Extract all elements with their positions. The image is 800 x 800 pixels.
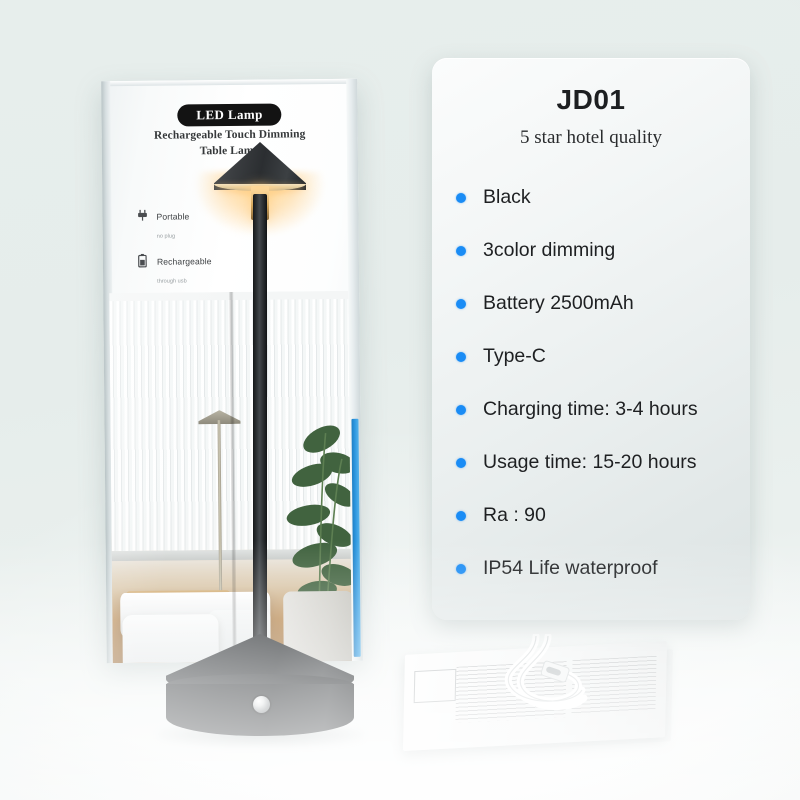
bullet-dot-icon xyxy=(456,458,466,468)
spec-list-item: Battery 2500mAh xyxy=(456,277,750,330)
bullet-dot-icon xyxy=(456,352,466,362)
box-led-lamp-badge: LED Lamp xyxy=(177,104,282,127)
lamp-shade xyxy=(214,142,306,190)
spec-text: 3color dimming xyxy=(483,239,615,262)
spec-list-item: Ra : 90 xyxy=(456,489,750,542)
spec-text: Usage time: 15-20 hours xyxy=(483,451,697,474)
product-photo-scene: LED Lamp Rechargeable Touch Dimming Tabl… xyxy=(0,0,800,800)
accessories-group xyxy=(404,648,666,744)
bullet-dot-icon xyxy=(456,193,466,203)
spec-text: Charging time: 3-4 hours xyxy=(483,398,698,421)
usb-c-cable xyxy=(490,634,612,718)
lamp-stem xyxy=(253,194,267,646)
spec-text: Ra : 90 xyxy=(483,504,546,527)
spec-info-card: JD01 5 star hotel quality Black 3color d… xyxy=(432,58,750,620)
bullet-dot-icon xyxy=(456,564,466,574)
card-title: JD01 xyxy=(432,84,750,116)
spec-text: IP54 Life waterproof xyxy=(483,557,658,580)
bullet-dot-icon xyxy=(456,405,466,415)
spec-bullet-list: Black 3color dimming Battery 2500mAh Typ… xyxy=(432,171,750,595)
bullet-dot-icon xyxy=(456,299,466,309)
manual-diagram-box xyxy=(414,669,457,703)
lamp-power-knob[interactable] xyxy=(253,696,270,713)
bullet-dot-icon xyxy=(456,246,466,256)
spec-list-item: Black xyxy=(456,171,750,224)
spec-text: Black xyxy=(483,186,531,209)
spec-text: Battery 2500mAh xyxy=(483,292,634,315)
plug-icon xyxy=(134,207,149,224)
battery-icon xyxy=(135,252,150,269)
spec-list-item: 3color dimming xyxy=(456,224,750,277)
card-subtitle: 5 star hotel quality xyxy=(432,127,750,149)
bullet-dot-icon xyxy=(456,511,466,521)
spec-list-item: Type-C xyxy=(456,330,750,383)
spec-list-item: IP54 Life waterproof xyxy=(456,542,750,595)
spec-list-item: Usage time: 15-20 hours xyxy=(456,436,750,489)
led-table-lamp xyxy=(150,136,370,726)
spec-list-item: Charging time: 3-4 hours xyxy=(456,383,750,436)
spec-text: Type-C xyxy=(483,345,546,368)
